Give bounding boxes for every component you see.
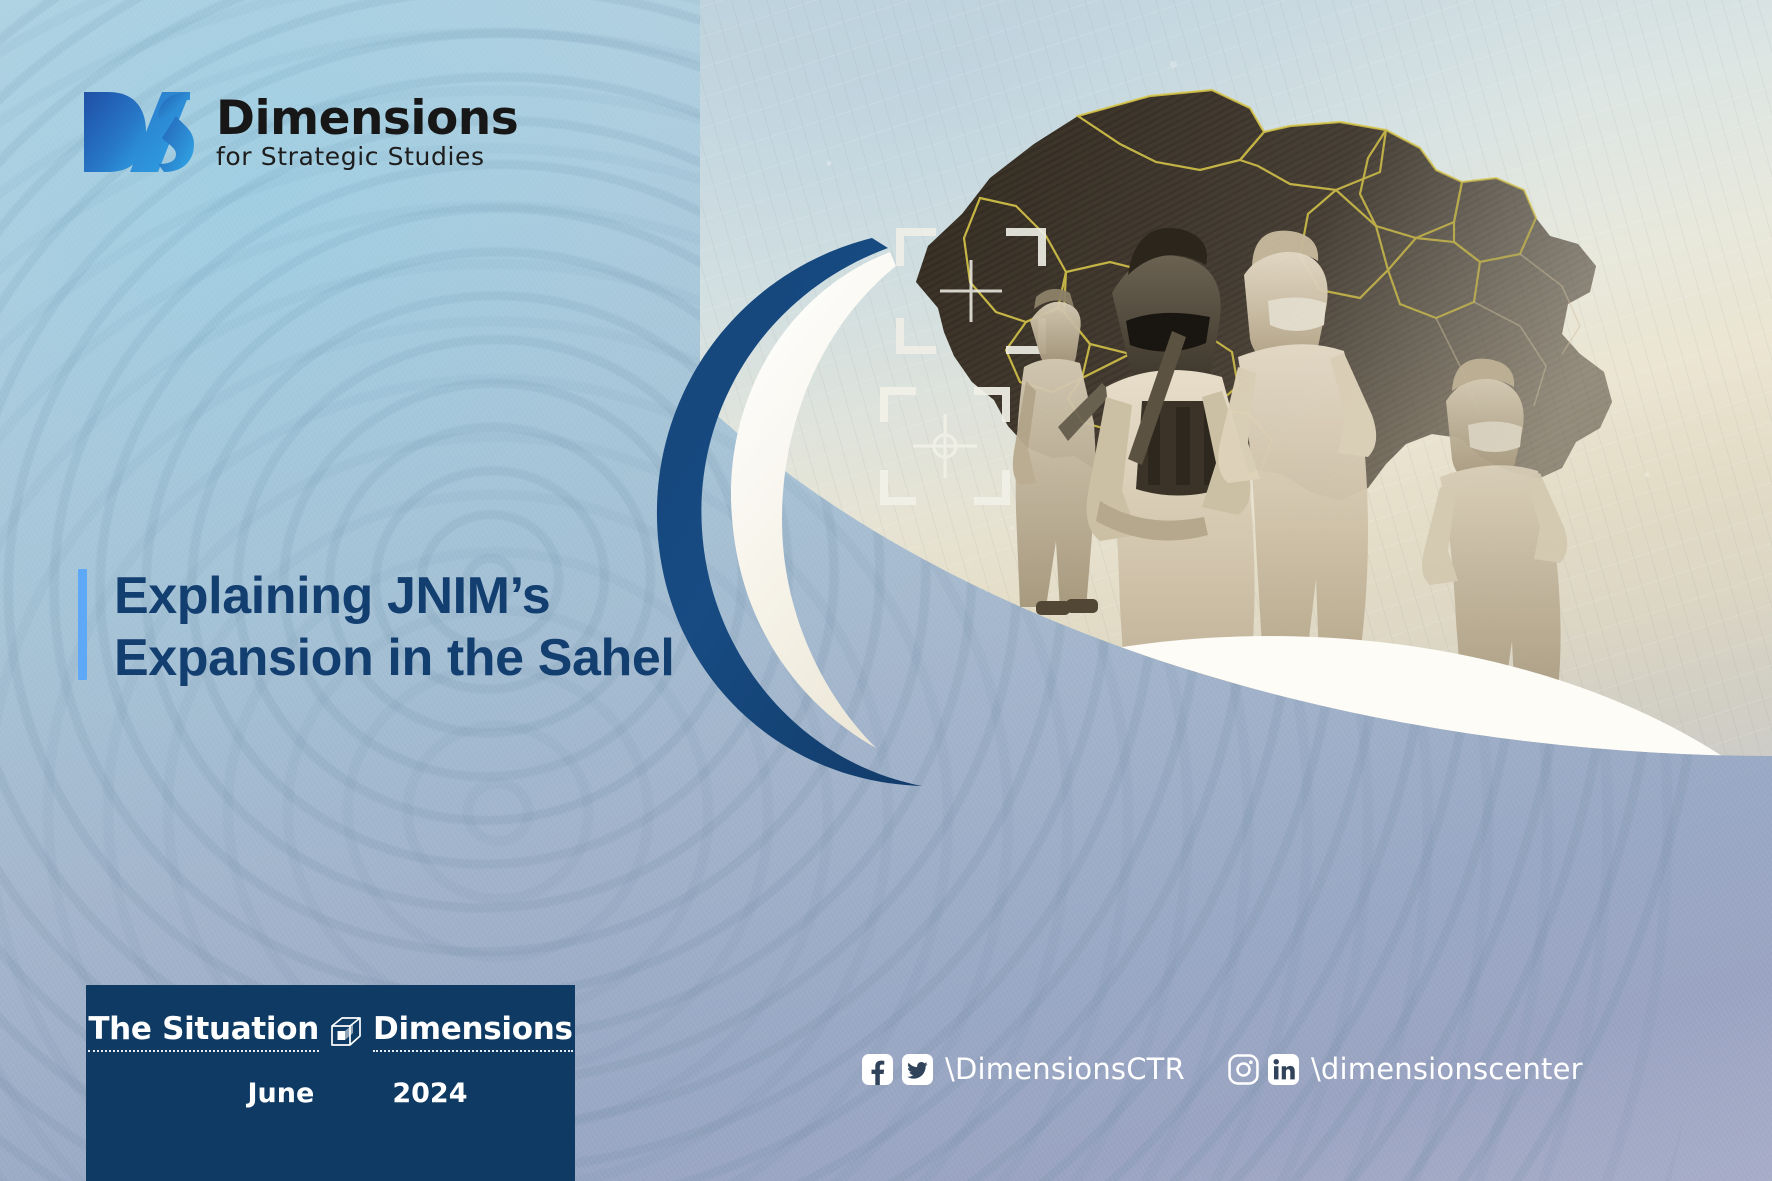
page-title: Explaining JNIM’s Expansion in the Sahel — [78, 566, 674, 690]
linkedin-icon[interactable] — [1268, 1054, 1299, 1085]
facebook-icon[interactable] — [862, 1054, 893, 1085]
publication-year: 2024 — [392, 1078, 467, 1109]
title-lines: Explaining JNIM’s Expansion in the Sahel — [114, 566, 674, 690]
brand-logo[interactable]: Dimensions for Strategic Studies — [78, 86, 518, 178]
publication-series-box: The Situation Dimensions June 2024 — [86, 985, 575, 1181]
militant-figure-far-right — [1422, 359, 1567, 701]
series-title-right: Dimensions — [373, 1012, 573, 1052]
dss-monogram-logo-icon — [78, 86, 196, 178]
series-title-left: The Situation — [88, 1012, 319, 1052]
social-group-primary: \DimensionsCTR — [862, 1052, 1185, 1086]
publication-series-row: The Situation Dimensions — [88, 1012, 572, 1052]
cube-logo-icon — [329, 1015, 363, 1049]
instagram-icon[interactable] — [1228, 1054, 1259, 1085]
publication-month: June — [248, 1078, 315, 1109]
social-media-bar: \DimensionsCTR \dimensionscenter — [862, 1049, 1583, 1089]
title-line-2: Expansion in the Sahel — [114, 628, 674, 690]
title-accent-bar — [78, 569, 87, 680]
blue-crescent-arc — [640, 230, 1200, 790]
brand-name: Dimensions — [216, 95, 518, 142]
brand-logo-text: Dimensions for Strategic Studies — [216, 95, 518, 169]
social-handle-secondary[interactable]: \dimensionscenter — [1311, 1052, 1583, 1086]
twitter-icon[interactable] — [902, 1054, 933, 1085]
publication-date: June 2024 — [194, 1078, 468, 1109]
social-group-secondary: \dimensionscenter — [1228, 1052, 1583, 1086]
title-line-1: Explaining JNIM’s — [114, 566, 674, 628]
brand-tagline: for Strategic Studies — [216, 144, 518, 169]
social-handle-primary[interactable]: \DimensionsCTR — [945, 1052, 1185, 1086]
cover-poster: Dimensions for Strategic Studies Explain… — [0, 0, 1772, 1181]
